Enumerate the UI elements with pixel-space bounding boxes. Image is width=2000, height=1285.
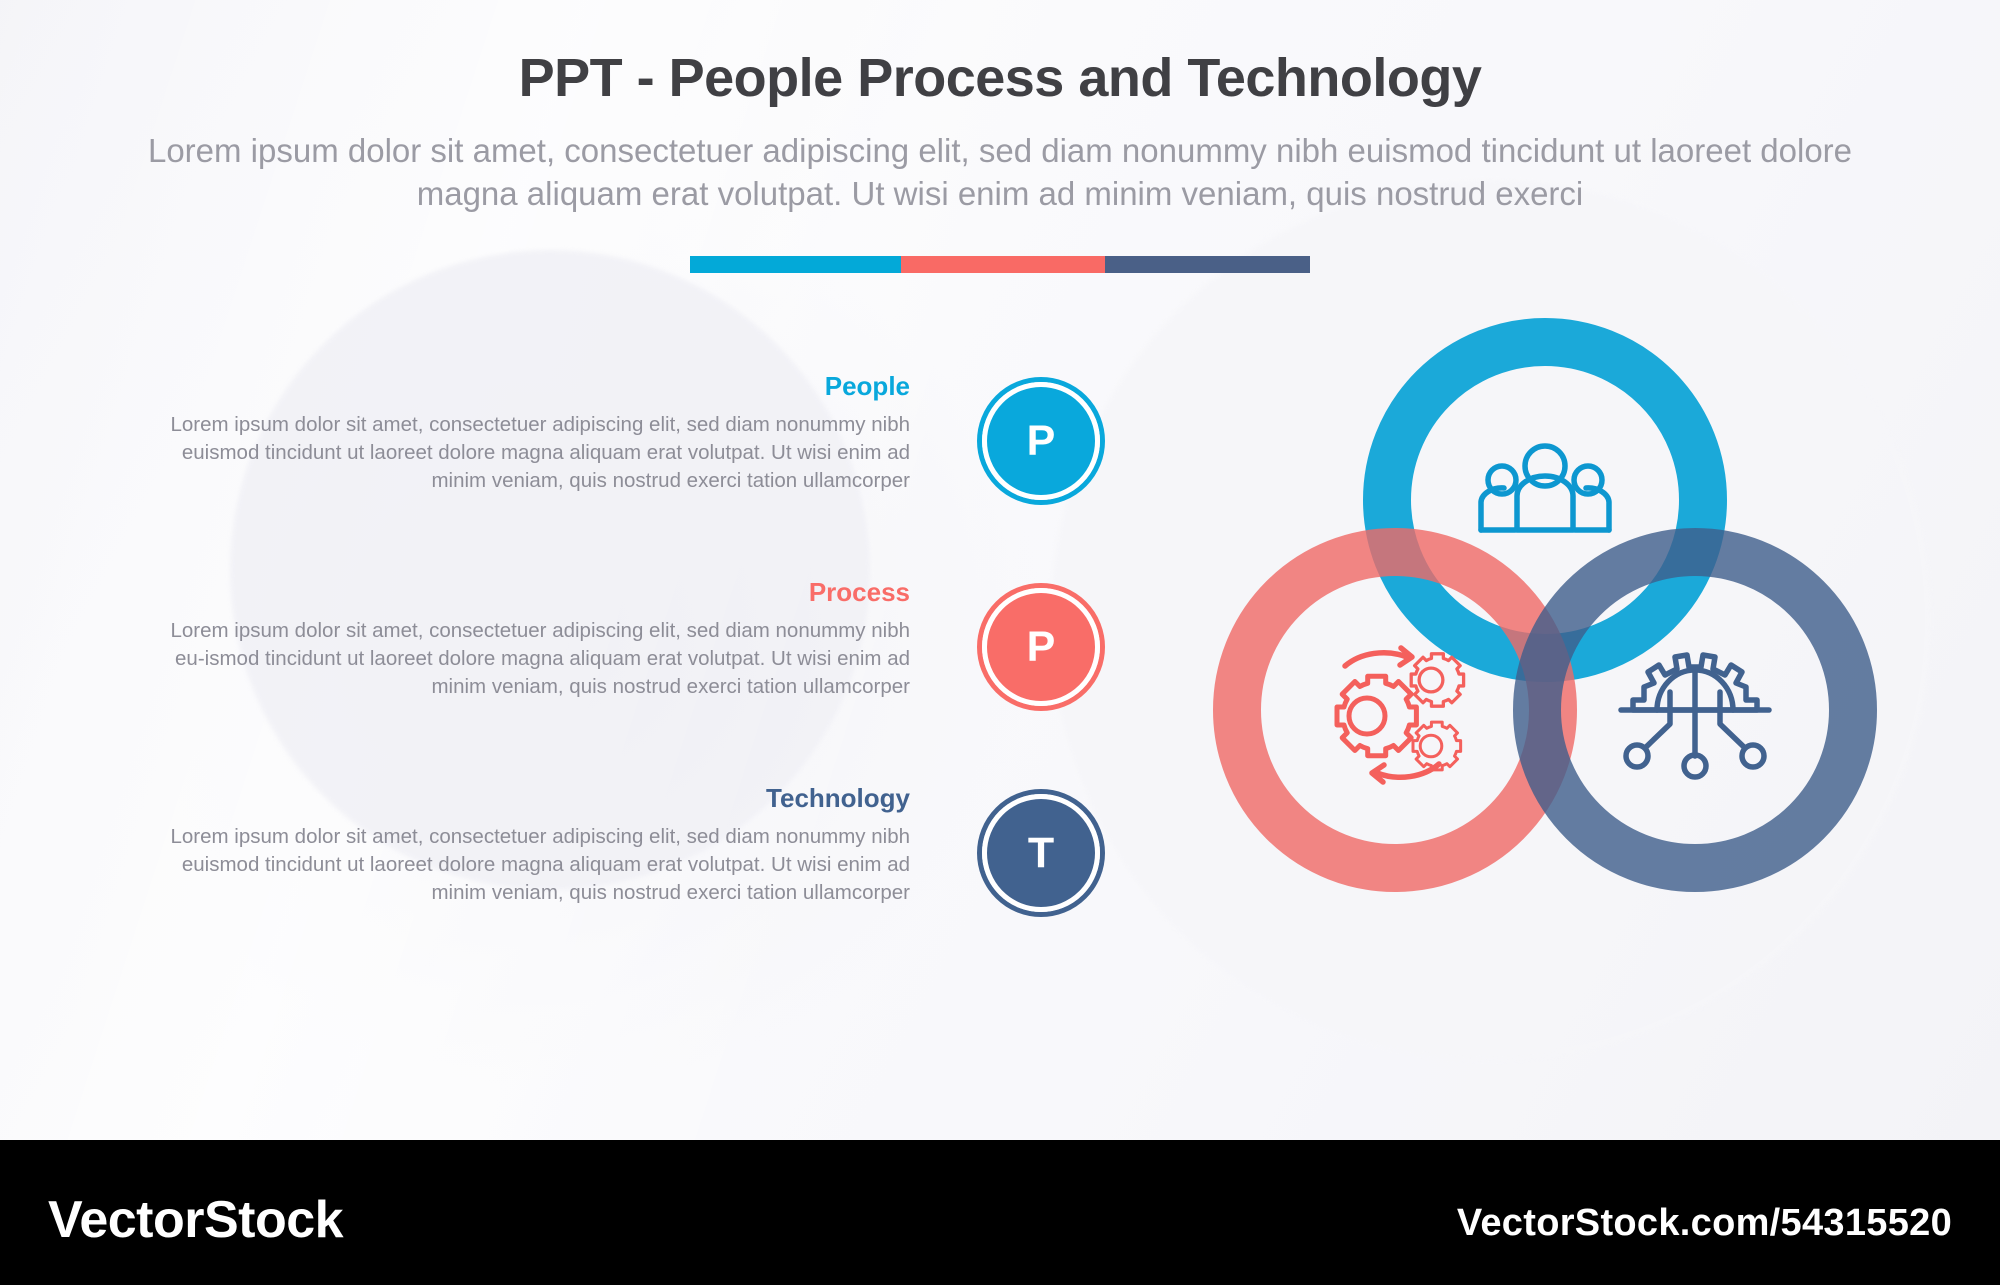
row-description-technology: Lorem ipsum dolor sit amet, consectetuer… bbox=[150, 823, 910, 908]
gears-cycle-icon bbox=[1337, 648, 1464, 782]
content-rows: People Lorem ipsum dolor sit amet, conse… bbox=[120, 372, 1100, 990]
row-text-people: People Lorem ipsum dolor sit amet, conse… bbox=[150, 372, 910, 495]
row-label-people: People bbox=[150, 372, 910, 401]
slide-body: PPT - People Process and Technology Lore… bbox=[0, 0, 2000, 1140]
page-title: PPT - People Process and Technology bbox=[0, 48, 2000, 108]
badge-people[interactable]: P bbox=[982, 382, 1100, 500]
badge-process[interactable]: P bbox=[982, 588, 1100, 706]
list-item[interactable]: Process Lorem ipsum dolor sit amet, cons… bbox=[120, 578, 1100, 784]
accent-bar bbox=[690, 256, 1310, 273]
list-item[interactable]: Technology Lorem ipsum dolor sit amet, c… bbox=[120, 784, 1100, 990]
accent-bar-segment-technology bbox=[1105, 256, 1310, 273]
row-text-process: Process Lorem ipsum dolor sit amet, cons… bbox=[150, 578, 910, 701]
list-item[interactable]: People Lorem ipsum dolor sit amet, conse… bbox=[120, 372, 1100, 578]
accent-bar-segment-process bbox=[901, 256, 1106, 273]
vectorstock-url: VectorStock.com/54315520 bbox=[1457, 1202, 1952, 1245]
row-label-technology: Technology bbox=[150, 784, 910, 813]
tech-gear-circuit-icon bbox=[1621, 655, 1769, 777]
people-group-icon bbox=[1481, 446, 1609, 530]
footer-bar: VectorStock VectorStock.com/54315520 bbox=[0, 1140, 2000, 1285]
slide-canvas: PPT - People Process and Technology Lore… bbox=[0, 0, 2000, 1285]
accent-bar-segment-people bbox=[690, 256, 901, 273]
header: PPT - People Process and Technology Lore… bbox=[0, 0, 2000, 216]
row-label-process: Process bbox=[150, 578, 910, 607]
venn-svg bbox=[1150, 300, 1910, 960]
vectorstock-logo: VectorStock bbox=[48, 1190, 343, 1250]
venn-diagram bbox=[1150, 300, 1910, 960]
row-text-technology: Technology Lorem ipsum dolor sit amet, c… bbox=[150, 784, 910, 907]
row-description-process: Lorem ipsum dolor sit amet, consectetuer… bbox=[150, 617, 910, 702]
row-description-people: Lorem ipsum dolor sit amet, consectetuer… bbox=[150, 411, 910, 496]
page-subtitle: Lorem ipsum dolor sit amet, consectetuer… bbox=[140, 130, 1860, 216]
badge-technology[interactable]: T bbox=[982, 794, 1100, 912]
